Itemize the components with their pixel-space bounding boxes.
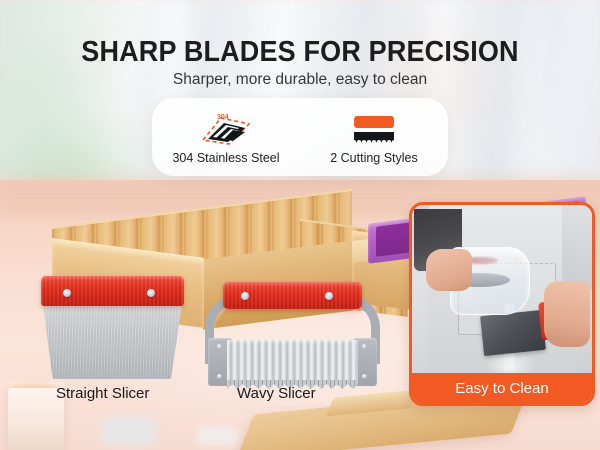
wavy-slicer-rivet [362,344,367,349]
wavy-slicer-crinkle-blade [227,340,358,385]
product-label-straight-slicer: Straight Slicer [56,385,149,402]
feature-2-cutting-styles: 2 Cutting Styles [300,109,448,165]
page-title: SHARP BLADES FOR PRECISION [21,36,579,68]
wavy-slicer-rivet [362,374,367,379]
inset-right-arm [562,205,595,291]
easy-to-clean-inset: Easy to Clean [409,202,595,406]
feature-panel: 304 304 Stainless Steel 2 Cutting Styles [152,98,448,176]
wavy-slicer [205,282,380,394]
straight-slicer-rivet-left [63,289,71,297]
stacked-blades-icon: 304 [195,109,257,149]
wavy-slicer-handle-rivet-left [241,292,249,300]
inset-right-hand [544,281,590,347]
two-cut-styles-icon [351,109,397,149]
feature-304-stainless-steel: 304 304 Stainless Steel [152,109,300,165]
straight-slicer-rivet-right [147,289,155,297]
page-subtitle: Sharper, more durable, easy to clean [0,71,600,89]
product-marketing-image: SHARP BLADES FOR PRECISION Sharper, more… [0,0,600,450]
straight-slicer-blade [43,305,182,379]
wavy-slicer-rivet [217,344,222,349]
inset-slicer-blade [480,310,546,356]
feature-label: 304 Stainless Steel [172,151,279,165]
background-object-blur-1 [100,416,156,446]
wavy-slicer-handle-rivet-right [325,292,333,300]
straight-slicer [35,276,190,384]
background-object-blur-2 [196,426,238,446]
wavy-slicer-rivet [217,374,222,379]
inset-caption-bar: Easy to Clean [412,373,592,403]
svg-text:304: 304 [217,114,229,121]
inset-left-hand [426,249,472,291]
product-label-wavy-slicer: Wavy Slicer [237,385,316,402]
feature-label: 2 Cutting Styles [330,151,418,165]
